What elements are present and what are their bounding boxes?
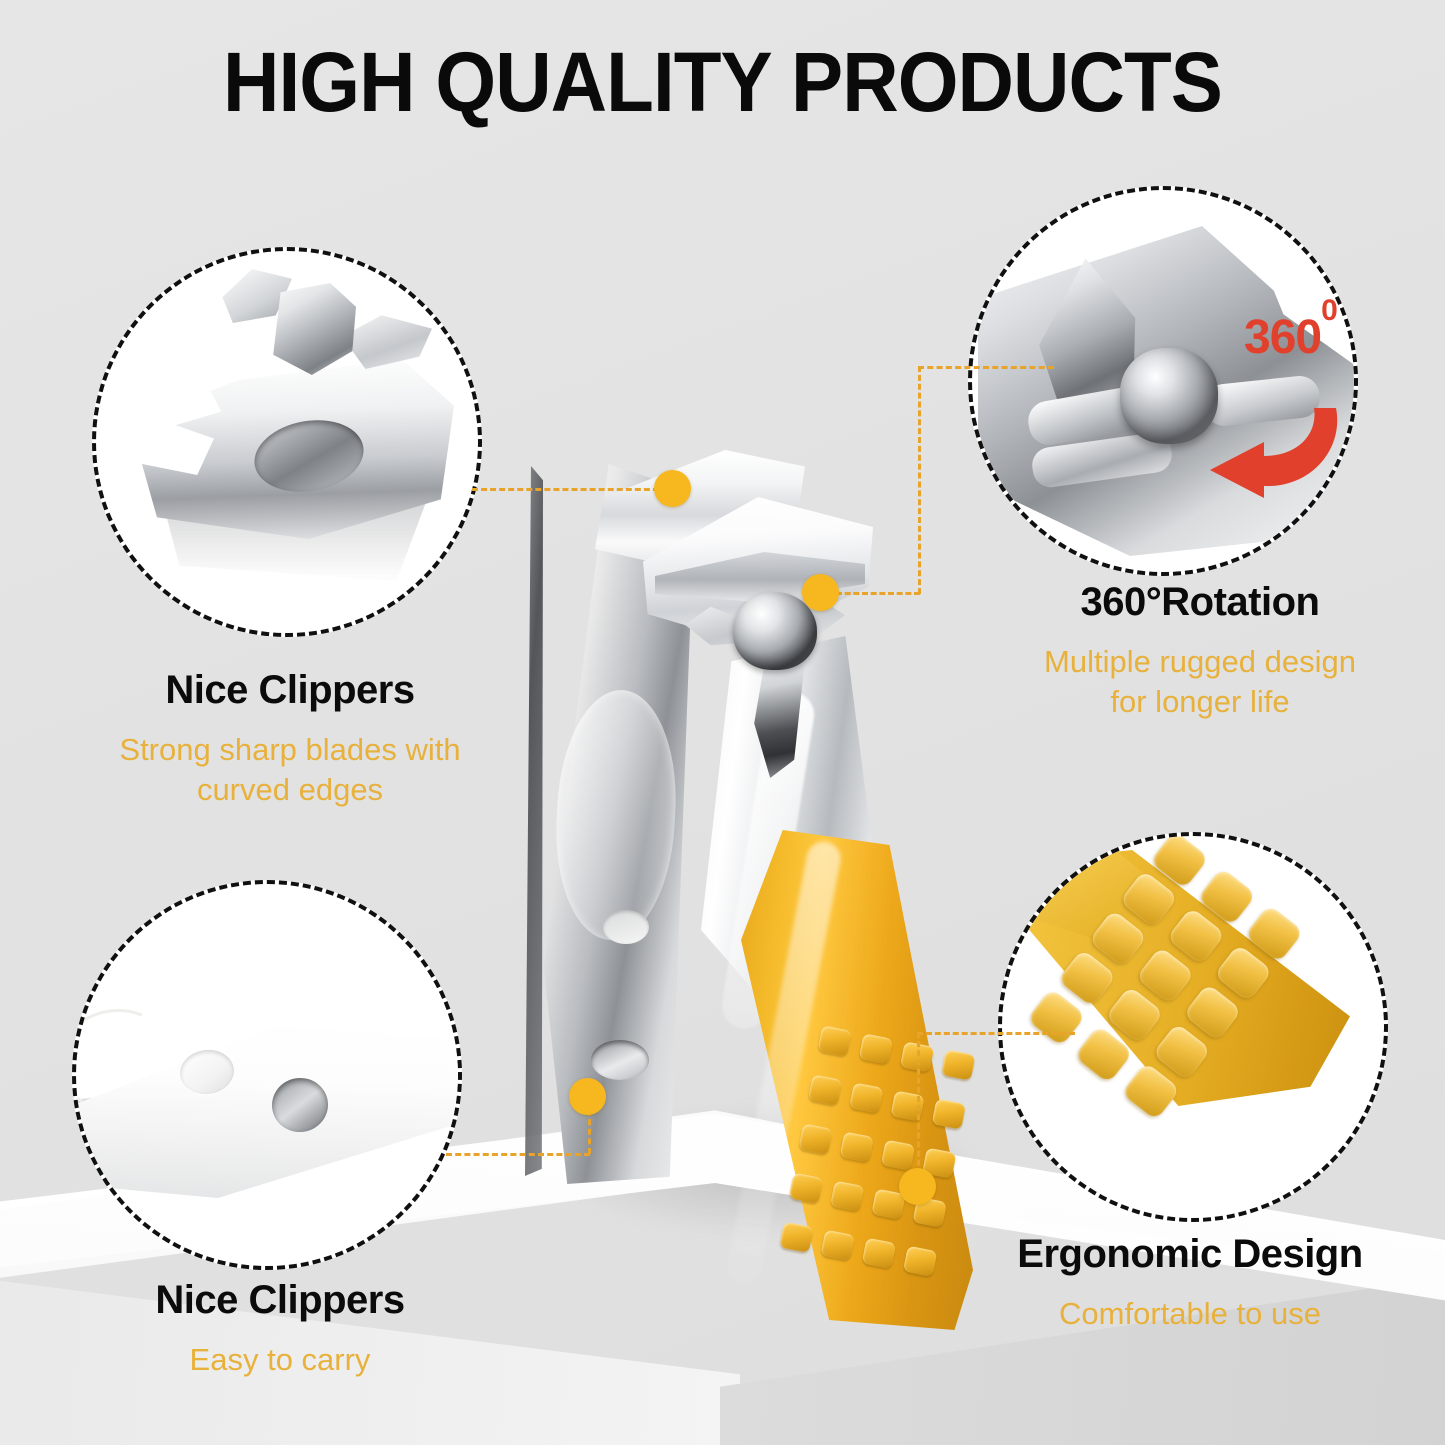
clipper-back-leaf-edge — [513, 466, 543, 1176]
rotation-degree-badge: 3600 — [1244, 310, 1337, 365]
caption-title: Nice Clippers — [50, 1278, 510, 1322]
inset-grip-bump — [1214, 944, 1273, 1003]
inset-bubble-clipper-body — [72, 880, 462, 1270]
caption-title: Ergonomic Design — [955, 1232, 1425, 1276]
grip-bump — [903, 1246, 937, 1277]
inset-image-rubber-grip — [1002, 836, 1384, 1218]
grip-bump — [821, 1230, 855, 1261]
grip-bump — [817, 1025, 851, 1056]
grip-bump — [840, 1131, 874, 1162]
caption-description: Multiple rugged design for longer life — [975, 642, 1425, 723]
caption-title: Nice Clippers — [60, 668, 520, 712]
clipper-pivot-knob — [733, 592, 817, 670]
caption-rotation: 360°Rotation Multiple rugged design for … — [975, 580, 1425, 723]
connector-line-segment — [917, 1032, 1075, 1035]
inset-image-clipper-body — [76, 884, 458, 1266]
caption-description: Easy to carry — [50, 1340, 510, 1380]
connector-dot — [899, 1168, 936, 1205]
inset-grip-bump — [1136, 946, 1195, 1005]
clipper-body-hole — [591, 1040, 649, 1080]
grip-bump — [881, 1139, 915, 1170]
connector-dot — [569, 1078, 606, 1115]
caption-description-line1: Multiple rugged design — [1044, 644, 1356, 679]
caption-description-line2: for longer life — [1110, 684, 1289, 719]
rotation-arrow-icon — [1186, 386, 1346, 506]
connector-line-segment — [446, 1153, 590, 1156]
connector-line-segment — [918, 366, 1054, 369]
product-nail-clipper — [495, 440, 1015, 1330]
caption-nice-clippers-carry: Nice Clippers Easy to carry — [50, 1278, 510, 1380]
inset-grip-bump — [1105, 986, 1164, 1045]
inset-grip-bump — [1152, 1023, 1211, 1082]
connector-line-segment — [836, 592, 920, 595]
inset-image-clipper-head — [96, 251, 478, 633]
inset-grip-bump — [1197, 867, 1256, 926]
infographic-canvas: HIGH QUALITY PRODUCTS — [0, 0, 1445, 1445]
caption-ergonomic: Ergonomic Design Comfortable to use — [955, 1232, 1425, 1334]
caption-description: Comfortable to use — [955, 1294, 1425, 1334]
connector-line-segment — [918, 366, 921, 594]
caption-description: Strong sharp blades with curved edges — [60, 730, 520, 811]
grip-bump — [932, 1098, 966, 1129]
grip-bump — [808, 1074, 842, 1105]
rotation-degree-unit: 0 — [1321, 294, 1337, 327]
rotation-degree-value: 360 — [1244, 311, 1321, 364]
caption-title: 360°Rotation — [975, 580, 1425, 624]
inset-bubble-rubber-grip — [998, 832, 1388, 1222]
inset-grip-bump — [1244, 904, 1303, 963]
caption-nice-clippers-blades: Nice Clippers Strong sharp blades with c… — [60, 668, 520, 811]
inset-clipper-wing — [342, 313, 432, 369]
inset-grip-bump — [1166, 907, 1225, 966]
connector-line-segment — [917, 1032, 920, 1184]
grip-bump — [798, 1123, 832, 1154]
grip-bump — [830, 1181, 864, 1212]
clipper-body-dimple — [603, 910, 649, 944]
grip-bump — [941, 1049, 975, 1080]
grip-bump — [862, 1238, 896, 1269]
grip-bump — [779, 1222, 813, 1253]
connector-dot — [654, 470, 691, 507]
connector-dot — [802, 574, 839, 611]
caption-description-line2: curved edges — [197, 772, 383, 807]
inset-bubble-swivel-pivot — [968, 186, 1358, 576]
grip-bump — [859, 1033, 893, 1064]
page-title: HIGH QUALITY PRODUCTS — [51, 34, 1395, 131]
inset-grip-bump — [1121, 1062, 1180, 1121]
caption-description-line1: Strong sharp blades with — [119, 732, 460, 767]
inset-image-swivel-pivot — [972, 190, 1354, 572]
inset-grip-bump — [1074, 1025, 1133, 1084]
grip-bump — [849, 1082, 883, 1113]
grip-bump — [789, 1173, 823, 1204]
connector-line-segment — [472, 488, 668, 491]
inset-bubble-clipper-head — [92, 247, 482, 637]
inset-grip-bump — [1027, 988, 1086, 1047]
inset-grip-bump — [1183, 983, 1242, 1042]
